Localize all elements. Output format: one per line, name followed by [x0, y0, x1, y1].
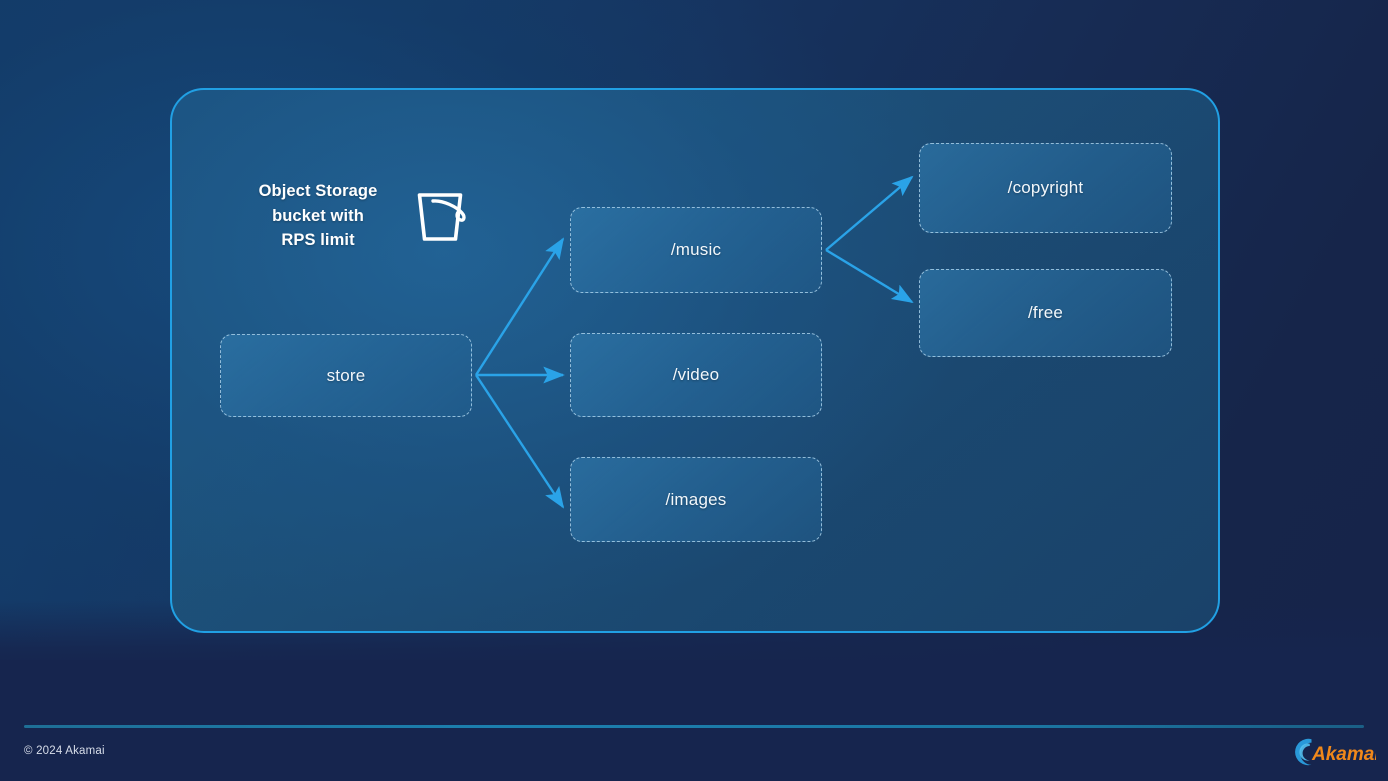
node-free[interactable]: /free	[919, 269, 1172, 357]
node-images[interactable]: /images	[570, 457, 822, 542]
footer-divider	[24, 725, 1364, 728]
node-images-label: /images	[666, 490, 727, 510]
node-video-label: /video	[673, 365, 720, 385]
node-music-label: /music	[671, 240, 721, 260]
node-music[interactable]: /music	[570, 207, 822, 293]
copyright-text: © 2024 Akamai	[24, 745, 105, 757]
footer-background-band	[0, 660, 1388, 781]
node-copyright[interactable]: /copyright	[919, 143, 1172, 233]
node-copyright-label: /copyright	[1008, 178, 1084, 198]
object-storage-bucket-group: Object Storage bucket with RPS limit	[238, 176, 496, 256]
caption-line-3: RPS limit	[238, 228, 398, 253]
caption-line-2: bucket with	[238, 204, 398, 229]
bucket-icon	[412, 185, 474, 247]
akamai-swirl-icon	[1295, 739, 1311, 765]
akamai-logo: Akamai	[1292, 735, 1376, 769]
slide-canvas: Object Storage bucket with RPS limit sto…	[0, 0, 1388, 781]
node-free-label: /free	[1028, 303, 1063, 323]
akamai-wordmark: Akamai	[1311, 744, 1376, 765]
caption-line-1: Object Storage	[238, 179, 398, 204]
object-storage-bucket-caption: Object Storage bucket with RPS limit	[238, 179, 398, 253]
node-store[interactable]: store	[220, 334, 472, 417]
node-store-label: store	[327, 366, 366, 386]
node-video[interactable]: /video	[570, 333, 822, 417]
